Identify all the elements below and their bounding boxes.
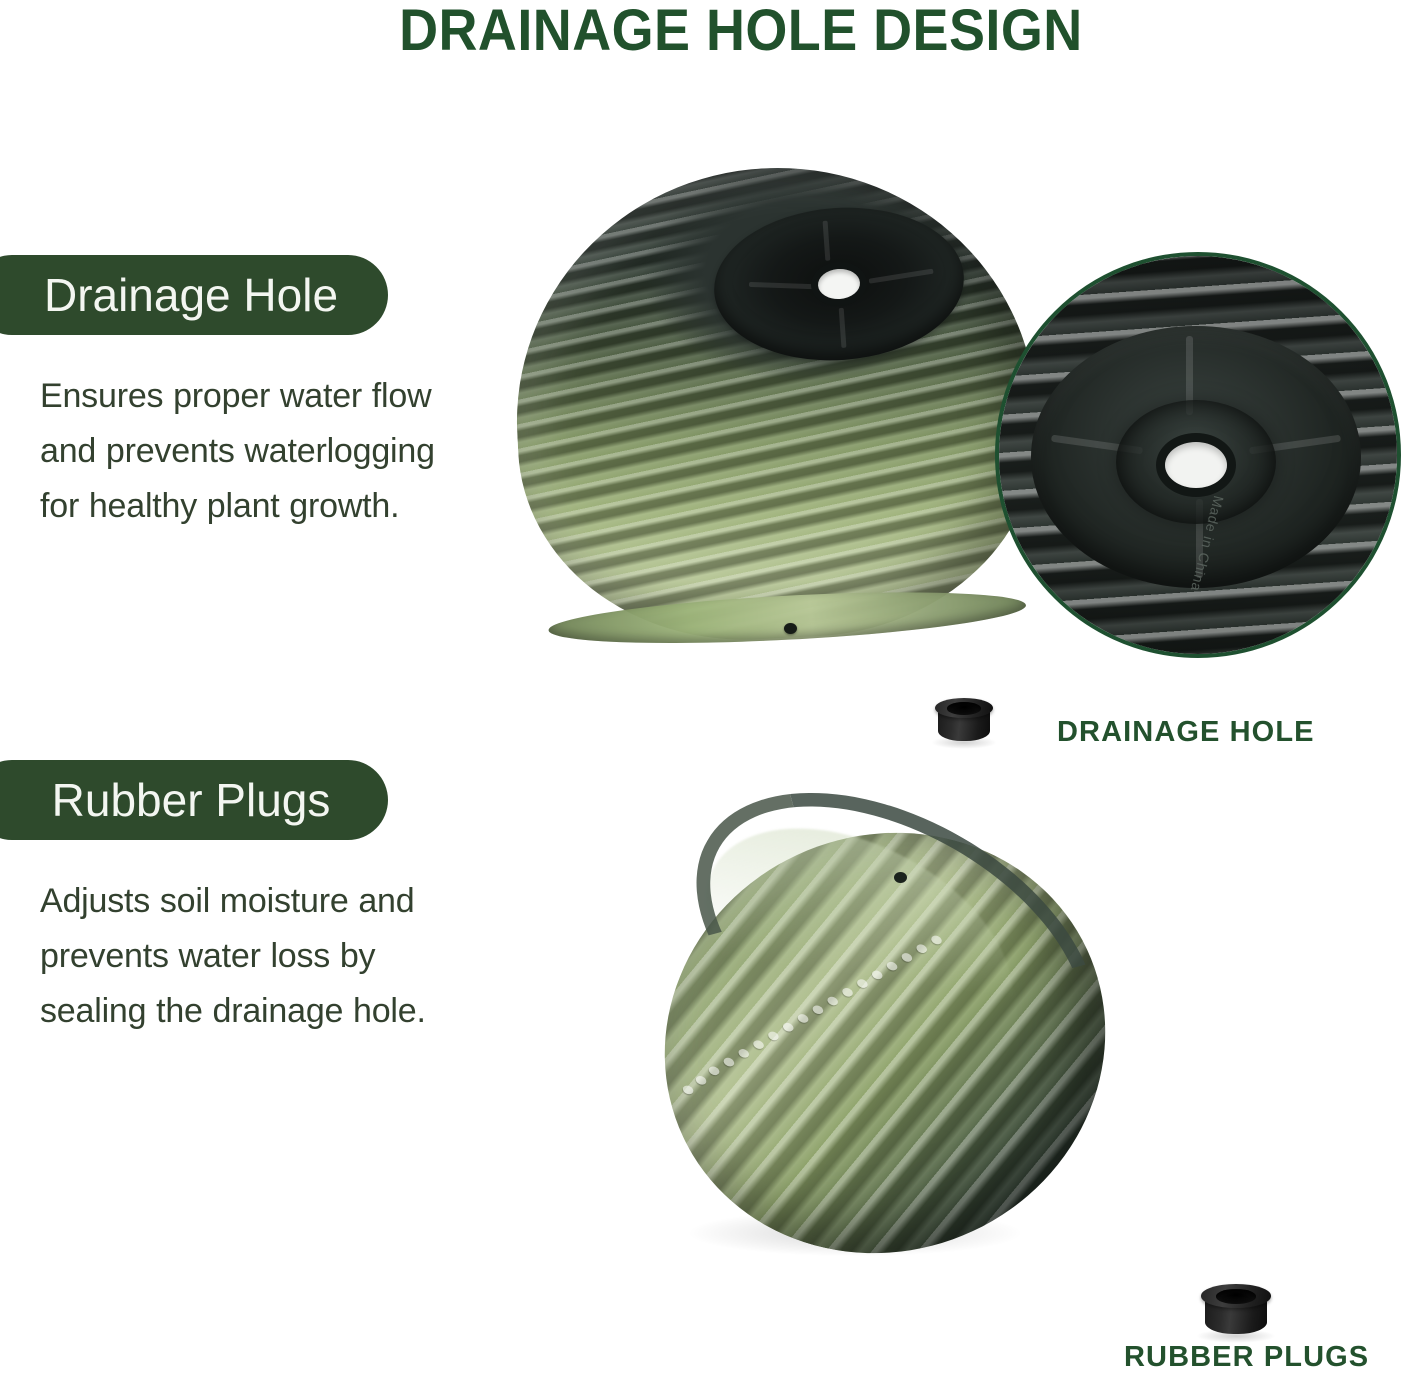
product-photo-pot-tilted: [650, 818, 1230, 1308]
callout-base-plate: Made in China: [1031, 326, 1361, 588]
plug-mouth: [947, 702, 980, 714]
base-rib: [838, 308, 846, 348]
feature-body-drainage-hole: Ensures proper water flow and prevents w…: [40, 369, 460, 534]
feature-badge-rubber-plugs: Rubber Plugs: [0, 760, 388, 840]
drainage-hole-opening: [817, 268, 861, 301]
base-rib: [749, 282, 814, 289]
rubber-plug-icon-drainage: [938, 698, 990, 746]
side-drainage-hole-tilted: [894, 872, 907, 883]
base-rib: [869, 269, 934, 284]
feature-badge-drainage-hole: Drainage Hole: [0, 255, 388, 335]
caption-rubber-plugs: RUBBER PLUGS: [1124, 1341, 1369, 1374]
feature-block-drainage-hole: Drainage Hole Ensures proper water flow …: [0, 255, 460, 534]
rubber-plug-icon-rubber: [1205, 1284, 1267, 1340]
base-rib: [822, 221, 830, 261]
side-drainage-hole: [784, 623, 797, 634]
product-photo-pot-inverted: [516, 168, 1076, 668]
plug-mouth: [1216, 1289, 1256, 1304]
caption-drainage-hole: DRAINAGE HOLE: [1057, 716, 1315, 749]
feature-block-rubber-plugs: Rubber Plugs Adjusts soil moisture and p…: [0, 760, 470, 1039]
feature-body-rubber-plugs: Adjusts soil moisture and prevents water…: [40, 874, 470, 1039]
page-title: DRAINAGE HOLE DESIGN: [50, 0, 1376, 62]
drainage-hole-opening-magnified: [1165, 442, 1227, 488]
magnified-callout-circle: Made in China: [995, 252, 1401, 658]
infographic-page: DRAINAGE HOLE DESIGN Drainage Hole Ensur…: [0, 0, 1426, 1380]
